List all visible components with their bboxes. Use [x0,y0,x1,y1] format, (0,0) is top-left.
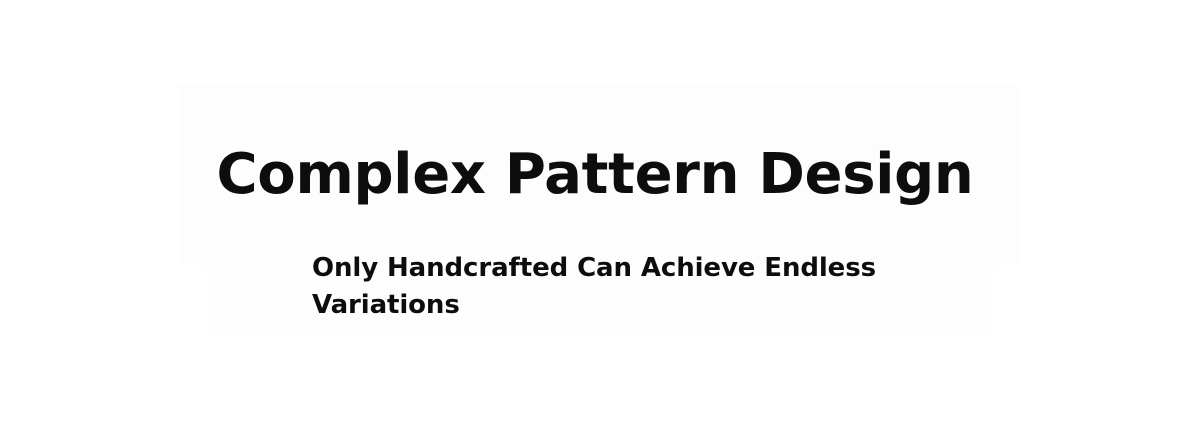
page-subtitle: Only Handcrafted Can Achieve Endless Var… [312,250,878,324]
slide-canvas: Complex Pattern Design Only Handcrafted … [0,0,1200,439]
hero-text-block: Complex Pattern Design Only Handcrafted … [0,0,1200,439]
page-title: Complex Pattern Design [0,142,1190,208]
